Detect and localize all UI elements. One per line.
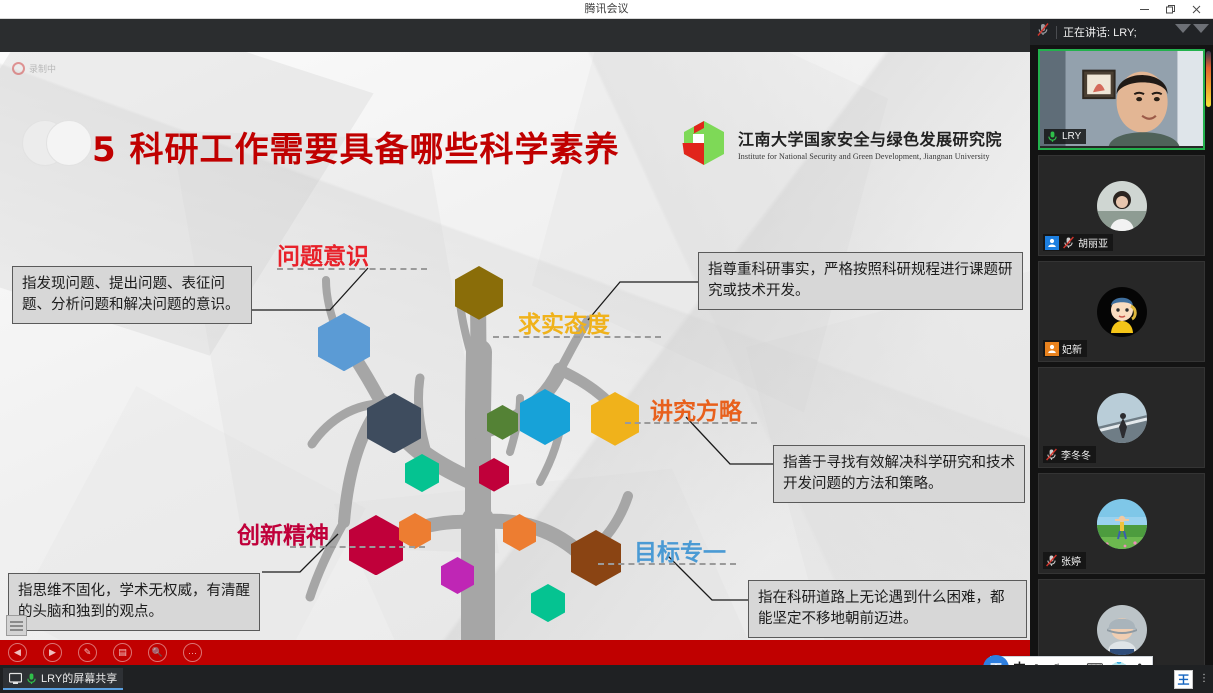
pen-tool-icon[interactable]: ✎ (78, 643, 97, 662)
previous-slide-icon[interactable]: ◀ (8, 643, 27, 662)
mic-muted-icon (1045, 554, 1058, 567)
minimize-button[interactable] (1131, 0, 1157, 19)
collapse-panel-button[interactable] (1175, 24, 1209, 33)
topic-dash-single-minded-goal (598, 563, 736, 565)
callout-pragmatic-attitude: 指尊重科研事实，严格按照科研规程进行课题研究或技术开发。 (698, 252, 1023, 310)
participant-name-chip: 李冬冬 (1043, 446, 1096, 463)
participant-name: 张婷 (1061, 553, 1081, 568)
speaker-status: 正在讲话: LRY; (1063, 24, 1137, 40)
avatar (1097, 181, 1147, 231)
avatar (1097, 287, 1147, 337)
slide-notes-icon[interactable] (6, 615, 27, 636)
presentation-toolbar: ◀▶✎▤🔍··· (0, 640, 1030, 665)
topic-label-single-minded-goal: 目标专一 (634, 533, 726, 567)
callout-strategy-focus: 指善于寻找有效解决科学研究和技术开发问题的方法和策略。 (773, 445, 1025, 503)
participant-role-badge-icon (1045, 342, 1059, 356)
participant-name-chip: LRY (1044, 129, 1086, 144)
topic-label-pragmatic-attitude: 求实态度 (518, 305, 610, 339)
header-divider (1056, 26, 1057, 39)
topic-label-strategy-focus: 讲究方略 (650, 392, 742, 426)
participant-tile-list[interactable]: LRY胡丽亚妃新李冬冬张婷 (1030, 45, 1213, 665)
topic-label-problem-awareness: 问题意识 (277, 237, 369, 271)
callout-leader-lines (0, 52, 1030, 640)
shared-slide: 录制中 5 科研工作需要具备哪些科学素养 江南大学国家安全与绿色发展研究院 In… (0, 52, 1030, 640)
window-controls (1131, 0, 1209, 19)
window-title: 腾讯会议 (0, 0, 1213, 19)
participant-role-badge-icon (1045, 236, 1059, 250)
topic-dash-pragmatic-attitude (493, 336, 661, 338)
participant-tile[interactable]: 妃新 (1038, 261, 1205, 362)
participant-tile[interactable]: 张婷 (1038, 473, 1205, 574)
avatar (1097, 499, 1147, 549)
participant-name: 妃新 (1062, 341, 1082, 356)
next-slide-icon[interactable]: ▶ (43, 643, 62, 662)
chevron-down-icon (1193, 24, 1209, 33)
tray-ime-icon[interactable]: 王 (1174, 670, 1193, 689)
participant-name: 李冬冬 (1061, 447, 1091, 462)
participant-tile[interactable]: 胡丽亚 (1038, 155, 1205, 256)
participant-scrollbar[interactable] (1206, 51, 1211, 107)
participant-name-chip: 张婷 (1043, 552, 1086, 569)
restore-button[interactable] (1157, 0, 1183, 19)
chevron-down-icon (1175, 24, 1191, 33)
mic-muted-icon (1045, 448, 1058, 461)
zoom-tool-icon[interactable]: 🔍 (148, 643, 167, 662)
topic-dash-strategy-focus (625, 422, 757, 424)
windows-taskbar: LRY的屏幕共享 王 ⋮ (0, 665, 1213, 693)
participant-tile[interactable]: 李冬冬 (1038, 367, 1205, 468)
participant-name-chip: 胡丽亚 (1043, 234, 1113, 251)
callout-problem-awareness: 指发现问题、提出问题、表征问题、分析问题和解决问题的意识。 (12, 266, 252, 324)
avatar (1097, 605, 1147, 655)
taskbar-item-screenshare[interactable]: LRY的屏幕共享 (3, 668, 123, 690)
microphone-icon (25, 672, 38, 685)
participant-tile[interactable] (1038, 579, 1205, 665)
participant-name: LRY (1062, 131, 1081, 142)
avatar (1097, 393, 1147, 443)
video-panel: 正在讲话: LRY; LRY胡丽亚妃新李冬冬张婷 (1030, 19, 1213, 665)
participant-name: 胡丽亚 (1078, 235, 1108, 250)
app-chrome-band (0, 19, 1030, 52)
tray-overflow-icon[interactable]: ⋮ (1199, 674, 1209, 684)
speaker-header: 正在讲话: LRY; (1030, 19, 1213, 45)
mic-muted-icon (1062, 236, 1075, 249)
callout-innovative-spirit: 指思维不固化，学术无权威，有清醒的头脑和独到的观点。 (8, 573, 260, 631)
participant-name-chip: 妃新 (1043, 340, 1087, 357)
topic-dash-innovative-spirit (290, 546, 425, 548)
mic-active-icon (1046, 130, 1059, 143)
mic-muted-icon (1036, 22, 1050, 42)
slide-overview-icon[interactable]: ▤ (113, 643, 132, 662)
window-titlebar: 腾讯会议 (0, 0, 1213, 19)
system-tray: 王 ⋮ (1174, 665, 1209, 693)
close-button[interactable] (1183, 0, 1209, 19)
callout-single-minded-goal: 指在科研道路上无论遇到什么困难，都能坚定不移地朝前迈进。 (748, 580, 1027, 638)
topic-label-innovative-spirit: 创新精神 (237, 516, 329, 550)
taskbar-item-label: LRY的屏幕共享 (41, 670, 117, 686)
participant-tile[interactable]: LRY (1038, 49, 1205, 150)
presentation-controls: ◀▶✎▤🔍··· (8, 640, 202, 665)
more-options-icon[interactable]: ··· (183, 643, 202, 662)
topic-dash-problem-awareness (277, 268, 427, 270)
monitor-icon (9, 672, 22, 685)
